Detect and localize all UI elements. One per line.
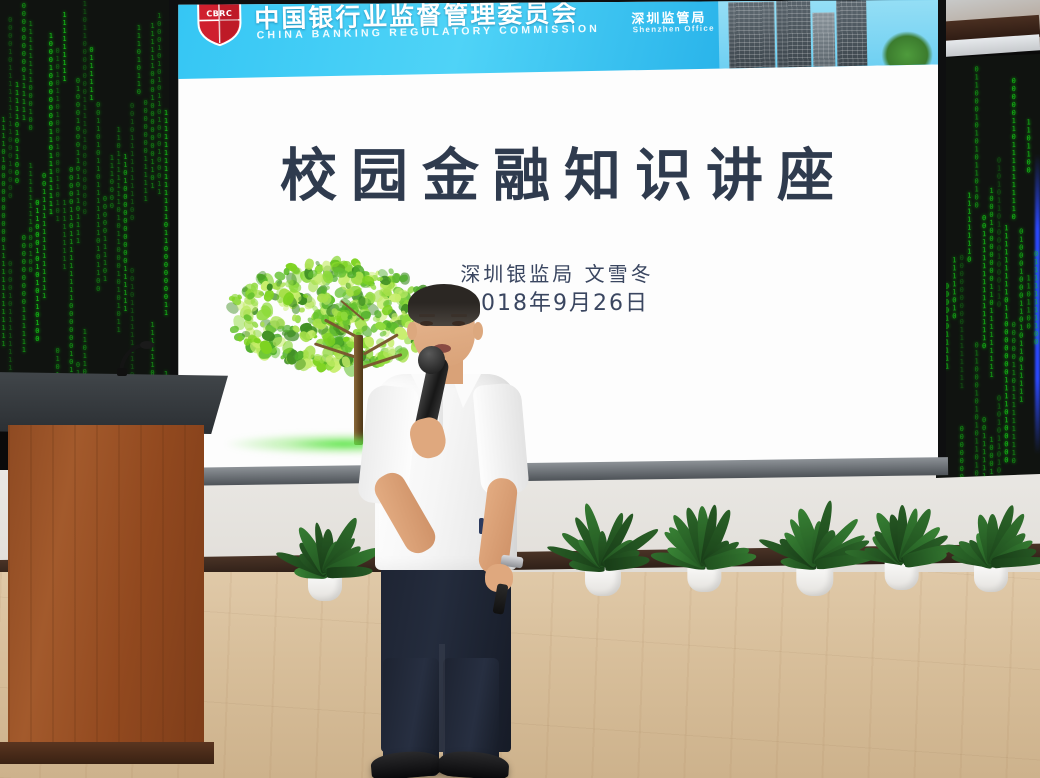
matrix-rain-column: 0 0 1 1 1 1 1 1 1 1 1 1 1 1 1 1	[42, 172, 47, 300]
city-skyline-photo	[718, 0, 938, 69]
matrix-rain-column: 0 1 1 1 1 1 1	[89, 46, 94, 102]
matrix-rain-column: 0 1 1 0 0 0 1 0 1 0 1 0 1 1 0 1 0 0	[35, 199, 40, 343]
matrix-rain-column: 1 1 1 1 1 0 1 0	[952, 256, 957, 320]
gooseneck-microphone-icon	[115, 340, 165, 376]
matrix-rain-column: 0 0 0 0 0 1 1 0 1 1 1 1 1 1 1 1 1 0	[1011, 77, 1016, 221]
matrix-rain-column: 1 1 1 0 1 0 1 1 0	[136, 24, 141, 96]
matrix-rain-column: 1 0 0 0 1 0 0 0 0 0 0 0 1 1 0 1 1 1 1 1 …	[989, 187, 994, 379]
matrix-rain-column: 0 0 0 0 0 0 0 0 0 1 1 1 1 1 1 1 1	[959, 425, 964, 478]
matrix-rain-column: 0 0 0 0 0 1 1 1 1 0 1	[103, 195, 108, 283]
matrix-rain-column: 0 0 0 0 0 0 0 0 0 1 1 1 1 1 1 1 1	[959, 254, 964, 390]
matrix-rain-column: 1 1 1 1 1 1 1 1 1	[62, 199, 67, 271]
projection-screen: CBRC 中国银行业监督管理委员会 CHINA BANKING REGULATO…	[176, 0, 938, 476]
matrix-rain-column: 1 1 1 1 1 1 1 1 1 0 1 1 0 0 0 0 0 0 0 1 …	[1004, 224, 1009, 464]
potted-plant-icon	[666, 498, 742, 592]
presenter-shoe-right	[438, 750, 510, 778]
potted-plant-icon	[772, 490, 858, 596]
potted-plant-icon	[952, 496, 1030, 592]
matrix-rain-column: 1 0 0 0 1 0 1 0 1 0 1 1 0 1 0 0 0 1 0 0 …	[157, 12, 162, 196]
matrix-rain-column: 0 0 1 0 1 1 1 1 1 1 1 1 1 0 0	[130, 102, 135, 222]
matrix-rain-column: 0 0 0 0 1 0 1 1 1 1 1 1 1 1 1 0 0 0 1 0 …	[8, 16, 13, 200]
ear-right	[473, 322, 483, 340]
matrix-rain-column: 0 1 0 0 0 1 0 0 0 1 1 0 1 0 1 1 0 1 1 1 …	[75, 77, 80, 245]
matrix-rain-column: 0 1 0 1 0 1 1 0 1 0 0 0 1 0 0 0 1 1 0	[996, 156, 1001, 308]
matrix-rain-column: 1 1 1 1 0 1 0 0 0 0 0 0 0 0 0 0 1 1 1 1 …	[1, 116, 6, 348]
matrix-rain-column: 1 1 1 1 1 1 1 1 1 1 1 1 1 1 0 1 1 0 0 0 …	[163, 109, 168, 317]
matrix-rain-column: 1 1 1 1 1 1 0 0 0 1 0 0 0 0 0 0 0 1 1 0 …	[150, 22, 155, 190]
matrix-rain-column: 0 0 0 0 0 0 0 1 1 1 1 1 1	[143, 99, 148, 203]
matrix-rain-column: 0 1 0 0 0 1 0 0 0 1 1 0 1 0 1 1 0 1 1 1 …	[1019, 228, 1024, 404]
eye-left	[420, 321, 433, 326]
matrix-rain-column: 0 0 0 0 0 0 0 0 0 1 1 1 1 1 1	[21, 234, 26, 354]
matrix-rain-column: 0 0 1 1 1 1 1 1 1 1 1 1 1 1 1 1 0	[982, 214, 987, 350]
podium-body	[8, 425, 204, 745]
potted-plant-icon	[286, 505, 364, 601]
podium-base	[0, 742, 214, 764]
matrix-rain-column: 0 1 1 1 1 1 1 1 1 1 0 0	[1034, 250, 1039, 346]
matrix-rain-column: 1 1 1 1 1 1 1 1 1	[62, 11, 67, 83]
matrix-rain-column: 0 0 1 1 0 1 0 1 1 0 1 1 1 1 1 1 1 0 1 0 …	[96, 101, 101, 293]
matrix-rain-column: 0 0 0 0 0 1 1 0 1 1 1 1 1 1 1 1 1 0	[1011, 321, 1016, 465]
brow-left	[419, 314, 435, 317]
presenter-hair	[408, 284, 480, 326]
presenter	[355, 278, 555, 778]
matrix-rain-column: 1 1 0 1 0 0 0 0 0 0 0 0 0 0 1 1 1 1 1 1	[123, 153, 128, 313]
matrix-rain-column: 0 1 0 1 0 1 1 0 1 0 0 0 1 0 0 0 1 1 0	[996, 394, 1001, 478]
matrix-rain-column: 0 1 1 0 0 0 1 0 1 0 1 0 1 1 0 1 0 0	[974, 65, 979, 209]
matrix-rain-column: 1 1 1 1 1 0 1 0 1 1 0 0 0	[15, 81, 20, 185]
matrix-rain-column: 0 0 1 1 1 1 1 1 1 1 1 1 1 1 1 1 0	[982, 416, 987, 478]
scene-photo: 1 1 1 1 0 1 0 0 0 0 0 0 0 0 0 0 1 1 1 1 …	[0, 0, 1040, 778]
slide-title: 校园金融知识讲座	[176, 130, 938, 212]
presenter-shoe-left	[370, 749, 442, 778]
matrix-rain-column: 1 1 0 1 1 0 0	[1026, 118, 1031, 174]
potted-plant-icon	[562, 494, 645, 596]
potted-plant-icon	[862, 492, 942, 590]
cbrc-shield-icon: CBRC	[196, 0, 243, 47]
matrix-rain-column: 1 1 1 1 1 1 1 1 0	[967, 192, 972, 264]
matrix-rain-column: 1 0 0 0 1 0 0 0 0 0 0 0 1 1 0 1 1 1 1 1 …	[989, 436, 994, 478]
matrix-rain-column: 1 1 1 0 0 0 0	[109, 154, 114, 210]
matrix-rain-column: 1 1 1 1 1 1 1 1 0 0 0 1 0 0	[28, 20, 33, 132]
led-wall-left: 1 1 1 1 0 1 0 0 0 0 0 0 0 0 0 0 1 1 1 1 …	[0, 0, 176, 390]
led-wall-right: 1 1 1 1 0 1 0 0 0 0 0 0 0 1 0 1 1 1 1 1 …	[936, 54, 1040, 478]
slide-banner: CBRC 中国银行业监督管理委员会 CHINA BANKING REGULATO…	[176, 0, 938, 79]
matrix-rain-column: 0 0 0 0 0 1 1 0 1 1 1 1 1 1 1 1 1 0 0 0 …	[69, 166, 74, 390]
leg-separation	[439, 644, 445, 766]
banner-office-en: Shenzhen Office	[633, 24, 715, 35]
matrix-rain-column: 0 0 0 0 1 0 1 1 1 1 1 1 1 1 1 0 0 0 1 0 …	[8, 260, 13, 390]
matrix-rain-column: 1 1 0 1 1 0 0	[1026, 275, 1031, 331]
tree-leaf	[292, 304, 301, 315]
tree-leaf	[299, 308, 305, 313]
matrix-rain-column: 0 1 0 1 0 1 1 0 1 0 0 0 1 0 0 0 1 1 0 1 …	[55, 47, 60, 223]
eye-right	[452, 321, 465, 326]
matrix-rain-column: 1 1 0 1 1 0 0 0 0 0 0 0 1 1 1 1 0 1 0 0 …	[82, 0, 87, 216]
brow-right	[451, 314, 467, 317]
matrix-rain-column: 1 0 0 0 1 0 0 0 0 0 0 0 1 1 0 1 1 1 1 1 …	[48, 32, 53, 216]
matrix-rain-column: 0 0 0 0 0 0 0 0 0 1 1 1 1 1 1	[21, 2, 26, 122]
matrix-rain-column: 1 1 0 1 1 1 1 1 1 1 0 1 0 1 1 0 0 0 1 0 …	[116, 126, 121, 334]
matrix-rain-column: 0 1 1 0 0 0 1 0 1 0 1 0 1 1 0 1 0 0	[974, 341, 979, 478]
svg-text:CBRC: CBRC	[206, 9, 232, 18]
matrix-rain-column: 1 1 1 1 1 1 1 1 0 0 0 1 0 0	[28, 162, 33, 274]
ear-left	[407, 322, 417, 340]
